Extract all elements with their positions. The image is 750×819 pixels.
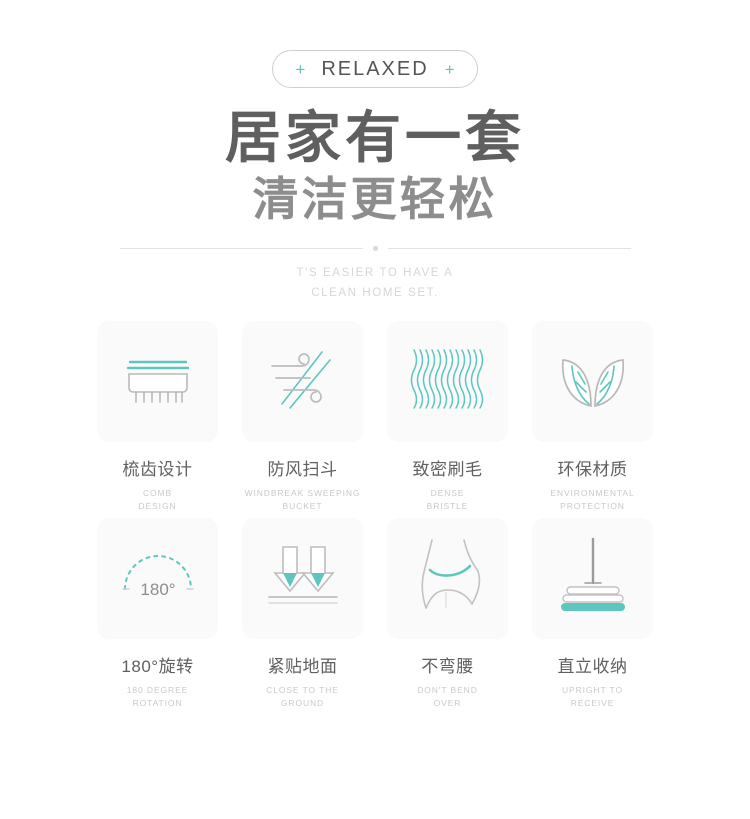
- divider-dot: [373, 246, 378, 251]
- feature-subtitle-line-2: GROUND: [266, 697, 339, 710]
- feature-subtitle-line-2: BRISTLE: [427, 500, 469, 513]
- comb-icon: [120, 348, 196, 415]
- feature-subtitle: DENSE BRISTLE: [427, 487, 469, 513]
- feature-subtitle: WINDBREAK SWEEPING BUCKET: [245, 487, 361, 513]
- divider-rule-left: [120, 248, 363, 249]
- subtitle-line-1: T'S EASIER TO HAVE A: [0, 263, 750, 283]
- feature-row-1: 梳齿设计 COMB DESIGN: [97, 321, 653, 513]
- subtitle-block: T'S EASIER TO HAVE A CLEAN HOME SET.: [0, 263, 750, 303]
- feature-card: [97, 321, 218, 442]
- subtitle-line-2: CLEAN HOME SET.: [0, 283, 750, 303]
- badge-label: RELAXED: [321, 58, 428, 81]
- feature-title: 防风扫斗: [268, 455, 338, 480]
- feature-subtitle-line-1: WINDBREAK SWEEPING: [245, 487, 361, 500]
- feature-grid: 梳齿设计 COMB DESIGN: [0, 321, 750, 710]
- feature-subtitle-line-2: OVER: [417, 697, 478, 710]
- feature-item-ground: 紧贴地面 CLOSE TO THE GROUND: [242, 518, 363, 710]
- feature-card: 180°: [97, 518, 218, 639]
- feature-subtitle-line-1: 180 DEGREE: [127, 684, 188, 697]
- close-to-ground-icon: [261, 539, 345, 618]
- feature-item-rotation: 180° 180°旋转 180 DEGREE ROTATION: [97, 518, 218, 710]
- feature-subtitle-line-2: ROTATION: [127, 697, 188, 710]
- feature-subtitle-line-1: CLOSE TO THE: [266, 684, 339, 697]
- windbreak-sweeping-icon: [262, 346, 344, 417]
- feature-card: [532, 518, 653, 639]
- feature-subtitle-line-2: RECEIVE: [562, 697, 623, 710]
- feature-item-waist: 不弯腰 DON'T BEND OVER: [387, 518, 508, 710]
- feature-item-eco: 环保材质 ENVIRONMENTAL PROTECTION: [532, 321, 653, 513]
- feature-card: [242, 321, 363, 442]
- feature-subtitle: UPRIGHT TO RECEIVE: [562, 684, 623, 710]
- svg-text:180°: 180°: [140, 580, 175, 599]
- feature-subtitle: 180 DEGREE ROTATION: [127, 684, 188, 710]
- leaf-icon: [553, 344, 633, 419]
- plus-right-icon: +: [445, 61, 455, 78]
- feature-subtitle-line-1: DON'T BEND: [417, 684, 478, 697]
- feature-item-comb: 梳齿设计 COMB DESIGN: [97, 321, 218, 513]
- feature-title: 紧贴地面: [268, 652, 338, 677]
- feature-title: 致密刷毛: [413, 455, 483, 480]
- feature-title: 梳齿设计: [123, 455, 193, 480]
- feature-subtitle: CLOSE TO THE GROUND: [266, 684, 339, 710]
- feature-title: 不弯腰: [421, 652, 474, 677]
- feature-title: 环保材质: [558, 455, 628, 480]
- feature-item-bristle: 致密刷毛 DENSE BRISTLE: [387, 321, 508, 513]
- feature-subtitle-line-1: COMB: [139, 487, 177, 500]
- feature-subtitle: COMB DESIGN: [139, 487, 177, 513]
- rotation-180-icon: 180°: [113, 545, 203, 612]
- divider-rule-right: [388, 248, 631, 249]
- feature-subtitle-line-1: DENSE: [427, 487, 469, 500]
- headline-block: 居家有一套 清洁更轻松: [0, 106, 750, 228]
- feature-card: [387, 518, 508, 639]
- headline-secondary: 清洁更轻松: [0, 172, 750, 227]
- badge-container: + RELAXED +: [0, 50, 750, 88]
- feature-subtitle-line-1: UPRIGHT TO: [562, 684, 623, 697]
- feature-subtitle-line-2: BUCKET: [245, 500, 361, 513]
- feature-subtitle-line-2: DESIGN: [139, 500, 177, 513]
- feature-card: [387, 321, 508, 442]
- feature-title: 180°旋转: [121, 652, 193, 677]
- feature-subtitle-line-2: PROTECTION: [550, 500, 634, 513]
- feature-title: 直立收纳: [558, 652, 628, 677]
- feature-item-storage: 直立收纳 UPRIGHT TO RECEIVE: [532, 518, 653, 710]
- feature-card: [242, 518, 363, 639]
- feature-item-windbreak: 防风扫斗 WINDBREAK SWEEPING BUCKET: [242, 321, 363, 513]
- feature-row-2: 180° 180°旋转 180 DEGREE ROTATION: [97, 518, 653, 710]
- feature-card: [532, 321, 653, 442]
- feature-subtitle-line-1: ENVIRONMENTAL: [550, 487, 634, 500]
- feature-subtitle: DON'T BEND OVER: [417, 684, 478, 710]
- feature-subtitle: ENVIRONMENTAL PROTECTION: [550, 487, 634, 513]
- upright-storage-icon: [551, 535, 635, 622]
- waist-icon: [406, 534, 490, 623]
- dense-bristle-icon: [406, 342, 490, 421]
- headline-primary: 居家有一套: [0, 106, 750, 170]
- divider: [0, 246, 750, 251]
- relaxed-badge: + RELAXED +: [272, 50, 477, 88]
- plus-left-icon: +: [295, 61, 305, 78]
